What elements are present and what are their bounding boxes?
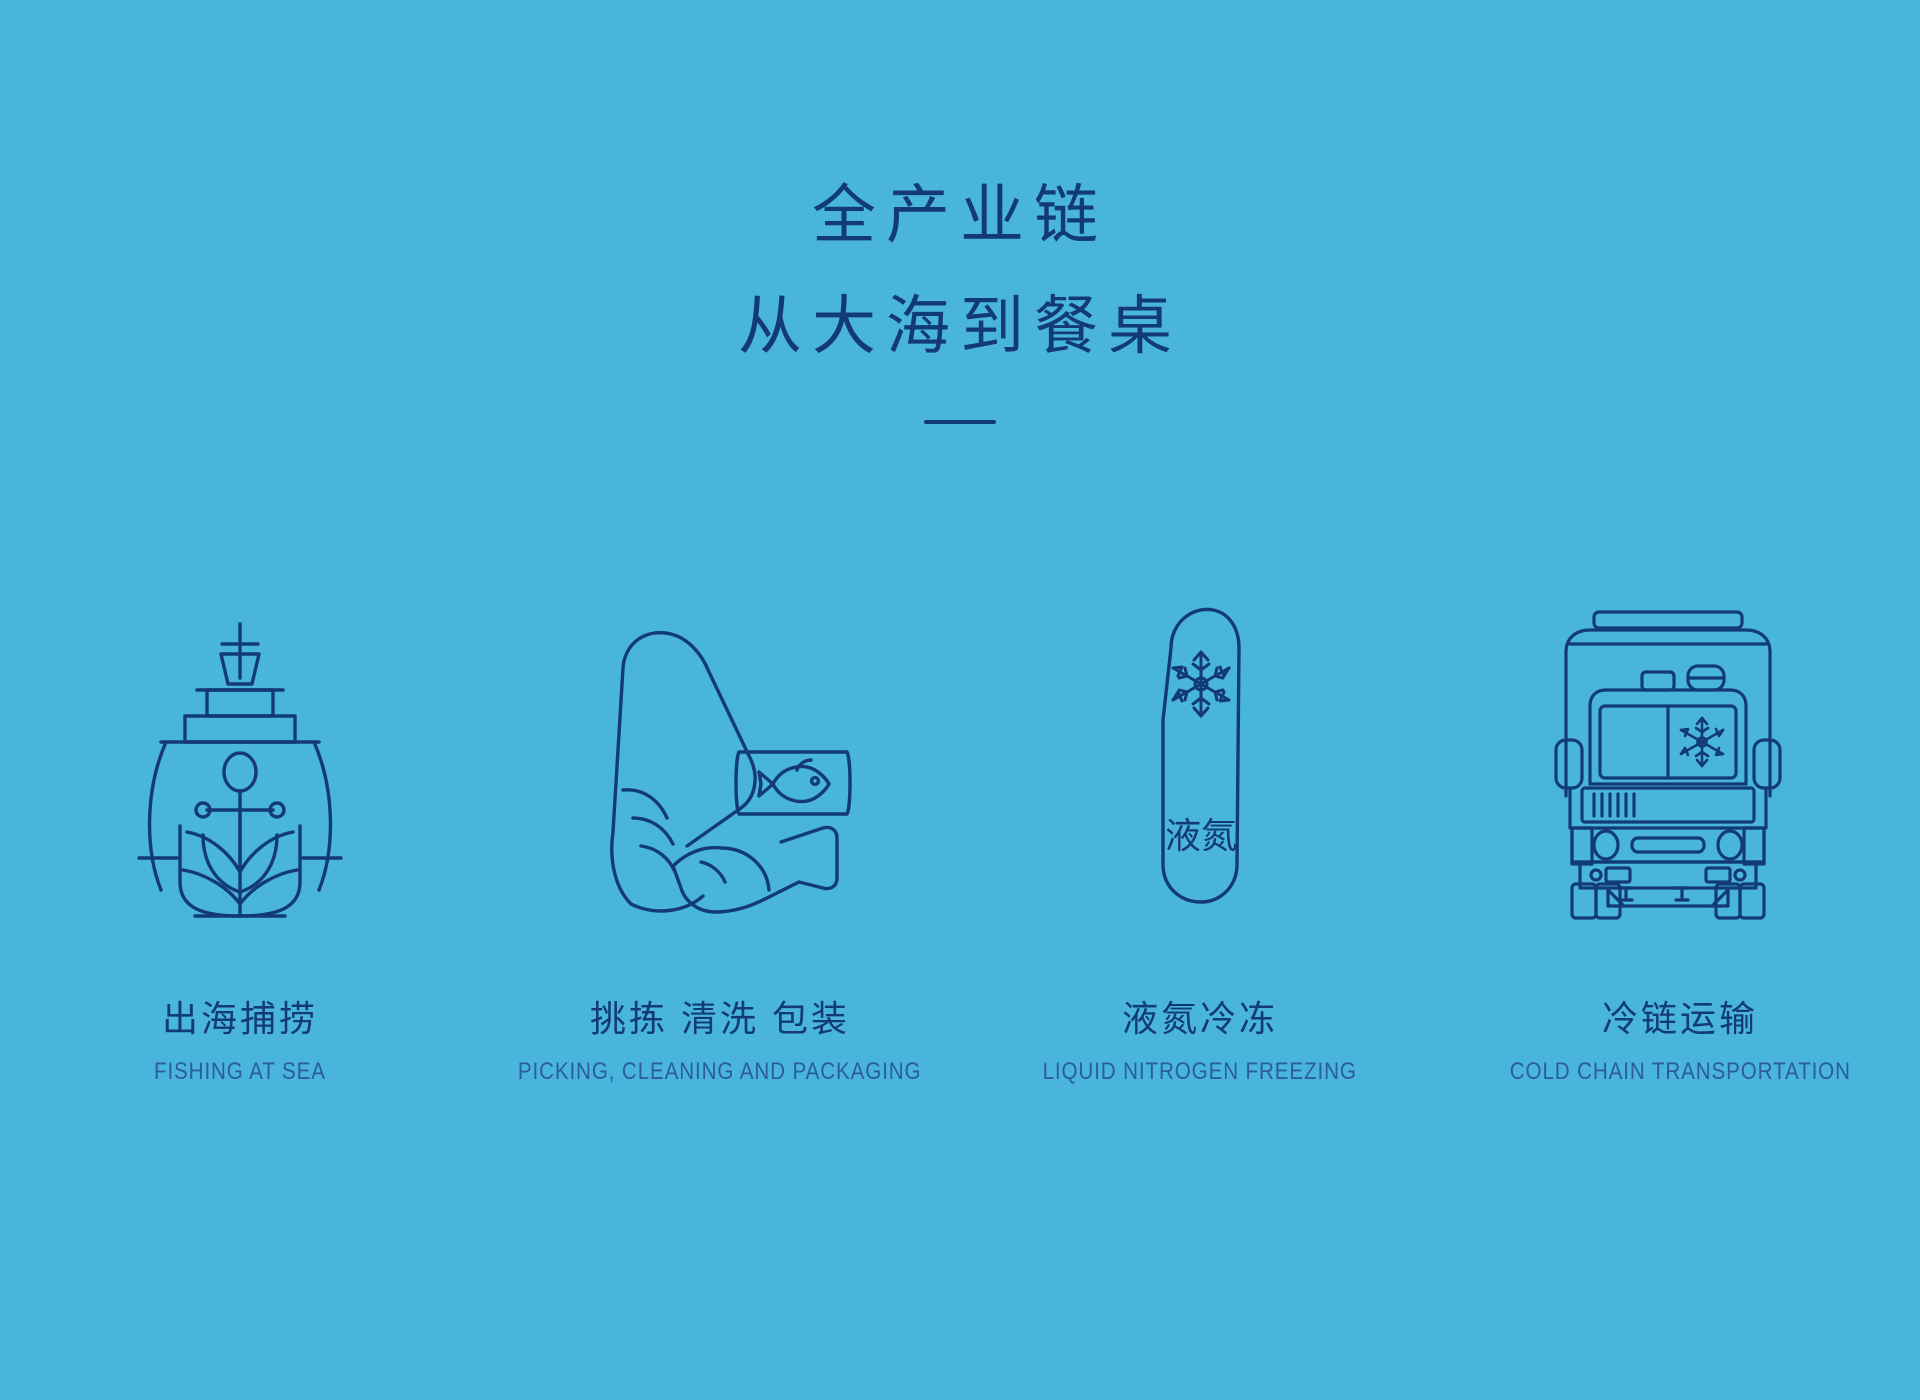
step-labels: 液氮冷冻 LIQUID NITROGEN FREEZING [1017, 990, 1382, 1086]
snowflake-glyph [1173, 652, 1229, 716]
step-label-cn: 冷链运输 [1482, 990, 1879, 1042]
step-label-cn: 液氮冷冻 [1017, 990, 1382, 1042]
icon-container: 液氮 [1135, 520, 1265, 920]
snowflake-glyph [1681, 718, 1723, 766]
tank-label-text: 液氮 [1165, 815, 1237, 856]
step-label-en: FISHING AT SEA [154, 1058, 326, 1086]
step-label-en: LIQUID NITROGEN FREEZING [1043, 1058, 1357, 1086]
step-fishing-at-sea: 出海捕捞 FISHING AT SEA [0, 520, 480, 1086]
step-label-en: COLD CHAIN TRANSPORTATION [1509, 1058, 1850, 1086]
step-labels: 挑拣 清洗 包装 PICKING, CLEANING AND PACKAGING [485, 990, 954, 1086]
step-label-cn: 挑拣 清洗 包装 [485, 990, 954, 1042]
step-liquid-nitrogen-freezing: 液氮 液氮冷冻 LIQUID NITROGEN FREEZING [960, 520, 1440, 1086]
icon-container [1550, 520, 1810, 920]
page-title-line-1: 全产业链 [0, 170, 1920, 263]
step-picking-cleaning-packaging: 挑拣 清洗 包装 PICKING, CLEANING AND PACKAGING [480, 520, 960, 1086]
step-label-cn: 出海捕捞 [140, 990, 340, 1042]
hands-fish-package-icon [575, 620, 865, 920]
fishing-boat-icon [125, 620, 355, 920]
icon-container [125, 520, 355, 920]
infographic-page: 全产业链 从大海到餐桌 [0, 0, 1920, 1400]
step-label-en: PICKING, CLEANING AND PACKAGING [518, 1058, 922, 1086]
icon-container [575, 520, 865, 920]
page-title-line-2: 从大海到餐桌 [0, 281, 1920, 374]
step-labels: 出海捕捞 FISHING AT SEA [140, 990, 340, 1086]
process-steps: 出海捕捞 FISHING AT SEA [0, 520, 1920, 1086]
liquid-nitrogen-tank-icon: 液氮 [1135, 600, 1265, 920]
refrigerated-truck-icon [1550, 600, 1810, 920]
step-labels: 冷链运输 COLD CHAIN TRANSPORTATION [1482, 990, 1879, 1086]
title-divider [924, 420, 996, 424]
page-header: 全产业链 从大海到餐桌 [0, 170, 1920, 424]
step-cold-chain-transportation: 冷链运输 COLD CHAIN TRANSPORTATION [1440, 520, 1920, 1086]
